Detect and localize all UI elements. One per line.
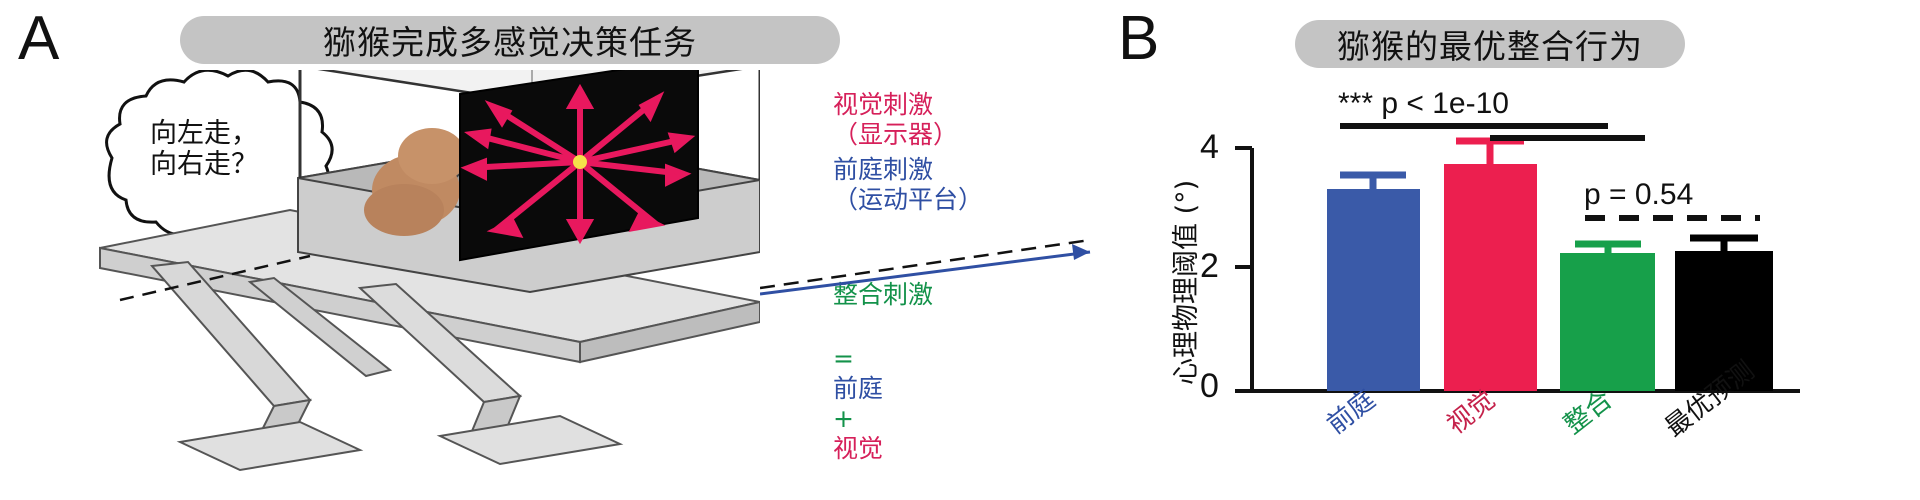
label-vestibular-stimulus: 前庭刺激 （运动平台） [833,155,983,215]
combined-equals: = [833,344,854,373]
figure-root: A 猕猴完成多感觉决策任务 [0,0,1920,500]
panel-b: B 猕猴的最优整合行为 心理物理阈值 (°) 4 2 0 [1100,0,1920,500]
combined-visual-term: 视觉 [833,434,883,463]
leader-lines [760,230,1110,310]
panel-a: A 猕猴完成多感觉决策任务 [0,0,1100,500]
combined-vestibular-term: 前庭 [833,374,883,403]
thought-bubble-text: 向左走， 向右走？ [150,118,340,180]
label-visual-stimulus: 视觉刺激 （显示器） [833,90,958,150]
significance-lines [1100,0,1920,500]
combined-plus: + [833,404,854,433]
fixation-point-icon [573,155,587,169]
label-combined-equation: = 前庭 + 视觉 [833,314,933,464]
panel-a-title: 猕猴完成多感觉决策任务 [180,16,840,64]
panel-a-letter: A [18,8,59,70]
bar-chart: 心理物理阈值 (°) 4 2 0 [1100,0,1920,500]
